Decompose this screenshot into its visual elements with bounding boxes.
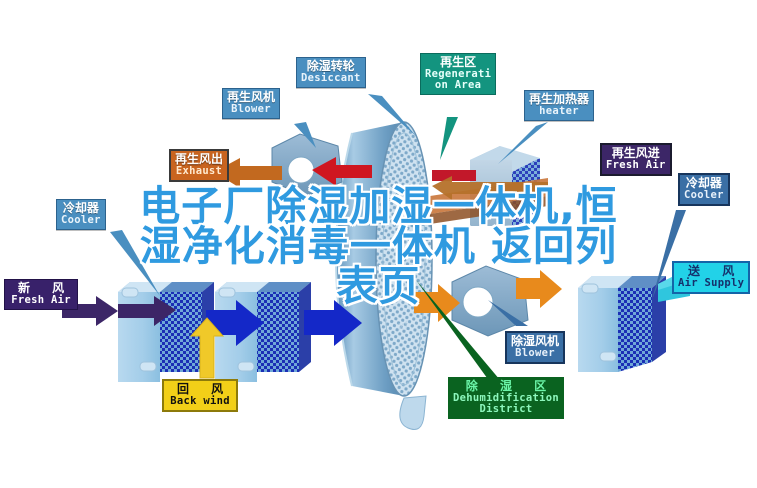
label-dehumid-blower: 除湿风机 Blower [505,331,565,364]
label-air-supply-cn: 送 风 [678,265,744,278]
label-dehumid-district-cn: 除 湿 区 [453,380,559,393]
label-exhaust-en: Exhaust [175,166,223,177]
label-fresh-air: 新 风 Fresh Air [4,279,78,310]
heater-element [432,170,476,181]
label-regeneration-area-en2: on Area [425,80,491,91]
desiccant-rotor: xf [336,122,432,396]
label-fresh-air-cn: 新 风 [9,282,73,295]
label-regen-heater-en: heater [529,106,589,117]
label-dehumid-blower-en: Blower [511,348,559,359]
filter-mid [257,282,311,372]
label-cooler-right: 冷却器 Cooler [678,173,730,206]
label-regen-blower: 再生风机 Blower [222,88,280,119]
label-desiccant-wheel-en: Desiccant [301,73,361,84]
label-regeneration-area: 再生区 Regenerati on Area [420,53,496,95]
label-desiccant-wheel-cn: 除湿转轮 [301,60,361,73]
label-regen-blower-en: Blower [227,104,275,115]
schematic-artwork: xf [0,0,757,488]
label-exhaust: 再生风出 Exhaust [169,149,229,182]
label-regen-fresh-air: 再生风进 Fresh Air [600,143,672,176]
label-regen-fresh-air-en: Fresh Air [606,160,666,171]
label-air-supply: 送 风 Air Supply [672,261,750,294]
label-regen-heater-cn: 再生加热器 [529,93,589,106]
label-air-supply-en: Air Supply [678,278,744,289]
label-dehumidification-district: 除 湿 区 Dehumidification District [448,377,564,419]
drain-pan [400,396,426,430]
label-desiccant-wheel: 除湿转轮 Desiccant [296,57,366,88]
label-regeneration-area-cn: 再生区 [425,56,491,69]
label-dehumid-district-en1: Dehumidification [453,393,559,404]
label-dehumid-blower-cn: 除湿风机 [511,335,559,348]
label-back-wind: 回 风 Back wind [162,379,238,412]
label-cooler-left-en: Cooler [61,215,101,226]
label-regen-blower-cn: 再生风机 [227,91,275,104]
label-cooler-right-cn: 冷却器 [684,177,724,190]
label-dehumid-district-en2: District [453,404,559,415]
label-regen-fresh-air-cn: 再生风进 [606,147,666,160]
label-regen-heater: 再生加热器 heater [524,90,594,121]
label-fresh-air-en: Fresh Air [9,295,73,306]
label-cooler-left-cn: 冷却器 [61,202,101,215]
label-exhaust-cn: 再生风出 [175,153,223,166]
label-back-wind-en: Back wind [168,396,232,407]
diagram-canvas: xf [0,0,757,488]
label-cooler-left: 冷却器 Cooler [56,199,106,230]
label-cooler-right-en: Cooler [684,190,724,201]
label-back-wind-cn: 回 风 [168,383,232,396]
label-regeneration-area-en1: Regenerati [425,69,491,80]
svg-text:xf: xf [398,318,409,333]
